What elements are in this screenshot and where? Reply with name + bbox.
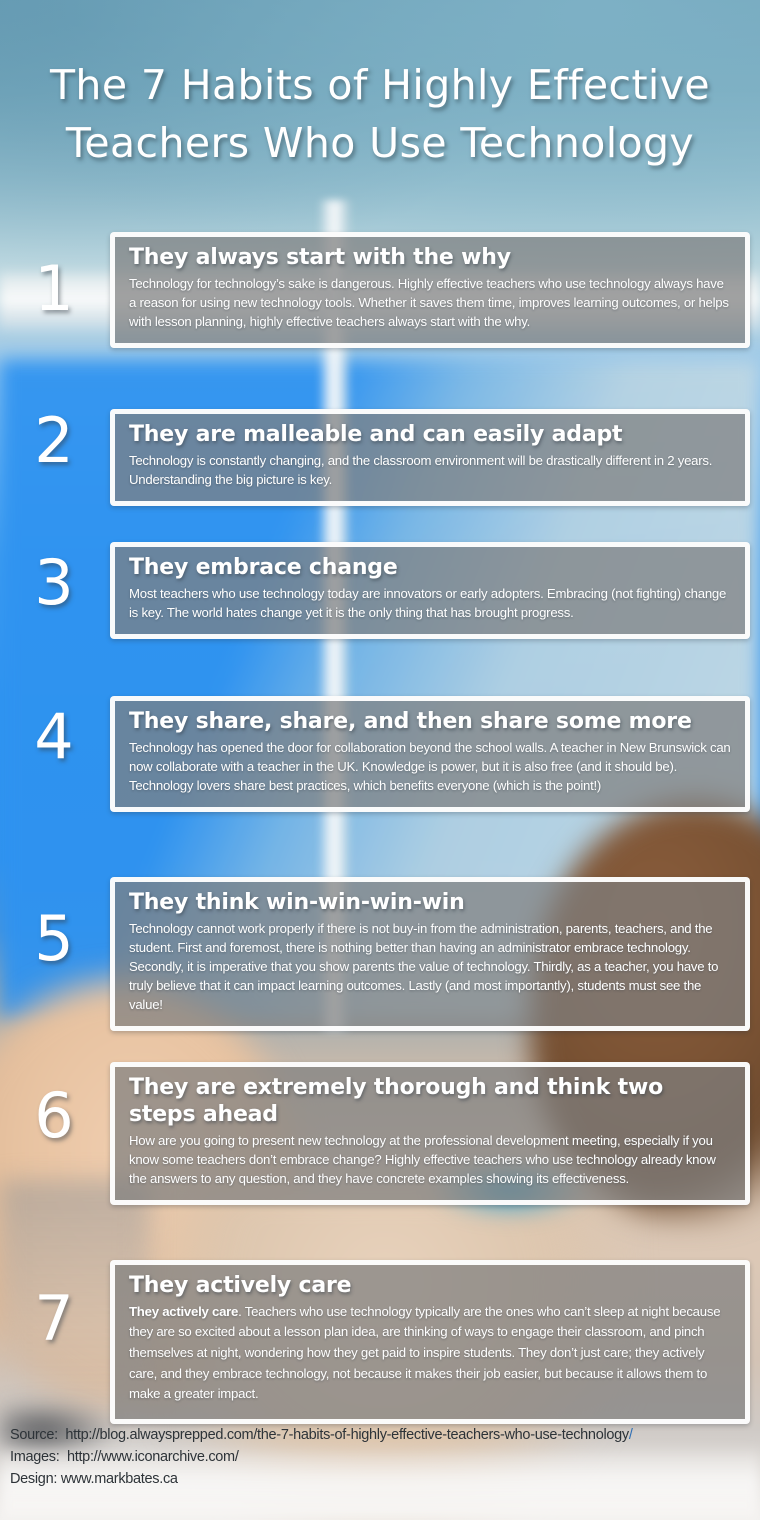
habit-number: 3	[0, 552, 108, 614]
footer-source-url[interactable]: http://blog.alwaysprepped.com/the-7-habi…	[65, 1427, 629, 1443]
habit-number: 7	[0, 1288, 108, 1350]
habit-title: They embrace change	[129, 555, 731, 582]
footer-design-line: Design: www.markbates.ca	[10, 1468, 755, 1490]
habit-body: Technology has opened the door for colla…	[129, 738, 731, 795]
footer-design-url[interactable]: www.markbates.ca	[61, 1471, 178, 1487]
habit-body: Technology cannot work properly if there…	[129, 919, 731, 1014]
footer-design-label: Design:	[10, 1471, 57, 1487]
footer-source-url-tail[interactable]: /	[629, 1427, 633, 1443]
habit-card: They are malleable and can easily adapt …	[110, 409, 750, 506]
habit-title: They share, share, and then share some m…	[129, 709, 731, 736]
habit-number: 5	[0, 908, 108, 970]
habit-title: They are extremely thorough and think tw…	[129, 1075, 731, 1129]
habit-body: Technology is constantly changing, and t…	[129, 451, 731, 489]
footer-source-label: Source:	[10, 1427, 58, 1443]
habit-card: They are extremely thorough and think tw…	[110, 1062, 750, 1205]
habit-number: 2	[0, 410, 108, 472]
habit-title: They are malleable and can easily adapt	[129, 422, 731, 449]
habit-body: How are you going to present new technol…	[129, 1131, 731, 1188]
footer-images-label: Images:	[10, 1449, 59, 1465]
habit-card: They share, share, and then share some m…	[110, 696, 750, 812]
footer-images-url[interactable]: http://www.iconarchive.com/	[67, 1449, 239, 1465]
habit-title: They think win-win-win-win	[129, 890, 731, 917]
infographic-root: The 7 Habits of Highly Effective Teacher…	[0, 0, 760, 1520]
habit-number: 4	[0, 706, 108, 768]
habit-card: They always start with the why Technolog…	[110, 232, 750, 348]
habit-body: Technology for technology’s sake is dang…	[129, 274, 731, 331]
page-title: The 7 Habits of Highly Effective Teacher…	[0, 56, 760, 172]
title-line-2: Teachers Who Use Technology	[0, 114, 760, 172]
habit-body-lead: They actively care	[129, 1304, 238, 1319]
habit-card: They embrace change Most teachers who us…	[110, 542, 750, 639]
footer-credits: Source: http://blog.alwaysprepped.com/th…	[10, 1424, 755, 1490]
title-line-1: The 7 Habits of Highly Effective	[0, 56, 760, 114]
habit-number: 1	[0, 258, 108, 320]
habit-body: Most teachers who use technology today a…	[129, 584, 731, 622]
habit-number: 6	[0, 1085, 108, 1147]
footer-source-line: Source: http://blog.alwaysprepped.com/th…	[10, 1424, 755, 1446]
habit-card: They actively care They actively care. T…	[110, 1260, 750, 1424]
footer-images-line: Images: http://www.iconarchive.com/	[10, 1446, 755, 1468]
habit-title: They actively care	[129, 1273, 731, 1300]
habit-card: They think win-win-win-win Technology ca…	[110, 877, 750, 1031]
habit-body: They actively care. Teachers who use tec…	[129, 1302, 731, 1405]
habit-title: They always start with the why	[129, 245, 731, 272]
